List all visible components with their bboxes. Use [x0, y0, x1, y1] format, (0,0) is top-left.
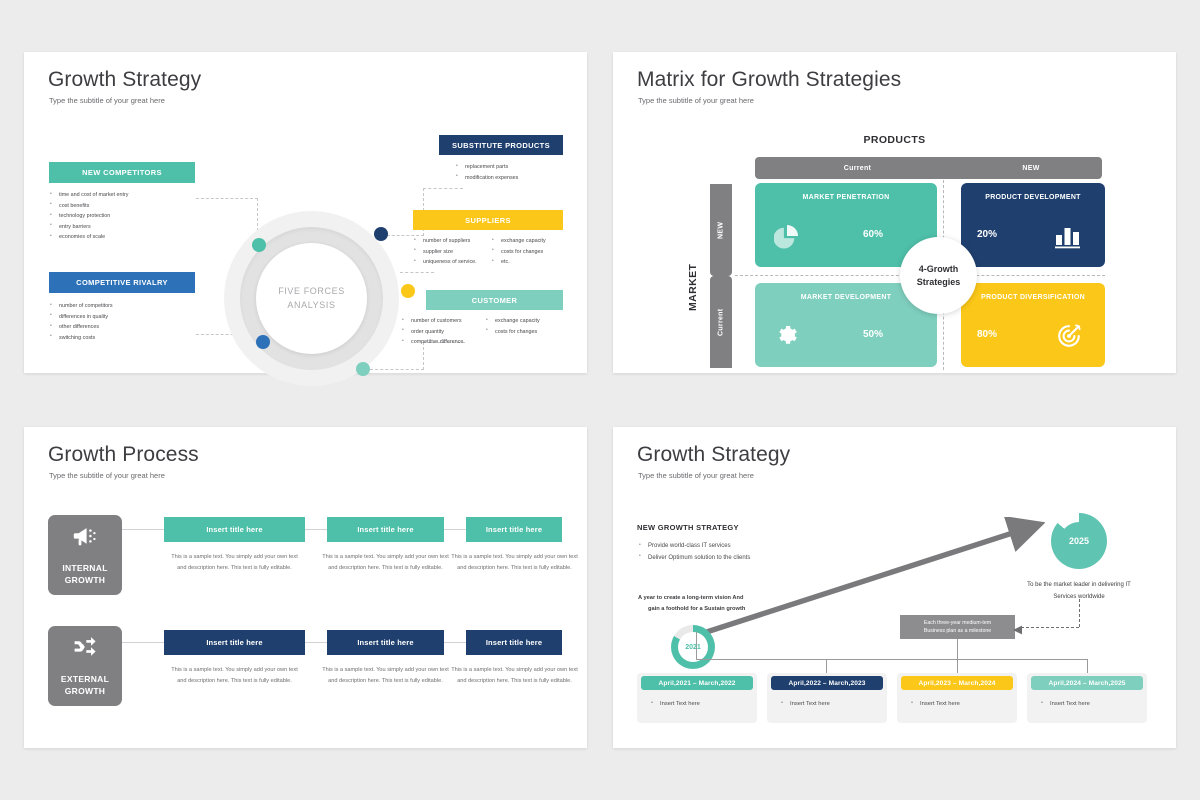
arrow-left-icon — [1013, 622, 1023, 640]
milestone-line2: Business plan as a milestone — [924, 627, 991, 635]
dot-suppliers — [401, 284, 415, 298]
dot-competitive-rivalry — [256, 335, 270, 349]
process-title-external-3[interactable]: Insert title here — [466, 630, 562, 655]
donut-2025: 2025 — [1051, 513, 1107, 569]
page-title: Growth Strategy — [637, 443, 790, 467]
process-title-internal-2[interactable]: Insert title here — [327, 517, 444, 542]
target-icon — [1056, 323, 1082, 354]
timeline-text-fy2023: Insert Text here — [911, 701, 960, 707]
connector-external-3 — [444, 642, 466, 643]
card-label-line1: INTERNAL — [62, 562, 107, 574]
slide-deck-preview: Growth Strategy Type the subtitle of you… — [0, 0, 1200, 800]
milestone-line1: Each three-year medium-tem — [924, 619, 991, 627]
pie-chart-icon — [774, 223, 800, 254]
list-item: cost benefits — [50, 201, 129, 212]
dot-customer — [356, 362, 370, 376]
megaphone-icon — [72, 524, 98, 553]
list-suppliers-left: number of suppliers supplier size unique… — [414, 236, 477, 268]
bus-drop-center — [957, 639, 958, 659]
ring-label-line1: FIVE FORCES — [278, 285, 345, 298]
connector-external-2 — [305, 642, 327, 643]
list-item: economies of scale — [50, 232, 129, 243]
list-item: costs for changes — [492, 247, 546, 258]
bus-drop-4 — [1087, 659, 1088, 673]
quadrant-percent: 60% — [863, 229, 883, 240]
timeline-text-fy2024: Insert Text here — [1041, 701, 1090, 707]
card-label-line1: EXTERNAL — [61, 673, 109, 685]
list-item: differences in quality — [50, 312, 113, 323]
start-note-line1: A year to create a long-term vision And — [638, 593, 813, 604]
quadrant-percent: 80% — [977, 329, 997, 340]
chip-competitive-rivalry[interactable]: COMPETITIVE RIVALRY — [49, 272, 195, 293]
shuffle-arrows-icon — [72, 635, 98, 664]
center-badge-line1: 4-Growth — [919, 263, 959, 275]
card-label-line2: GROWTH — [61, 685, 109, 697]
row-header-current: Current — [710, 276, 732, 368]
row-header-new: NEW — [710, 184, 732, 276]
page-title: Growth Strategy — [48, 68, 201, 92]
list-item: exchange capacity — [486, 316, 540, 327]
card-label-line2: GROWTH — [62, 574, 107, 586]
bus-drop-3 — [957, 659, 958, 673]
quadrant-title: PRODUCT DIVERSIFICATION — [961, 294, 1105, 301]
connector-internal-2 — [305, 529, 327, 530]
five-forces-ring: FIVE FORCES ANALYSIS — [224, 211, 399, 386]
list-item: exchange capacity — [492, 236, 546, 247]
card-external-growth[interactable]: EXTERNAL GROWTH — [48, 626, 122, 706]
axis-label-products: PRODUCTS — [613, 134, 1176, 146]
list-item: other differences — [50, 322, 113, 333]
list-customer-left: number of customers order quantity compe… — [402, 316, 463, 348]
list-item: order quantity — [402, 327, 463, 338]
slide-growth-strategy-timeline[interactable]: Growth Strategy Type the subtitle of you… — [613, 427, 1176, 748]
col-header-current: Current — [755, 157, 960, 179]
process-body-internal-2: This is a sample text. You simply add yo… — [322, 552, 449, 574]
page-subtitle: Type the subtitle of your great here — [49, 96, 165, 105]
connector-end-note-v — [1079, 599, 1080, 627]
quadrant-percent: 50% — [863, 329, 883, 340]
page-subtitle: Type the subtitle of your great here — [49, 471, 165, 480]
quadrant-percent: 20% — [977, 229, 997, 240]
list-item: replacement parts — [456, 162, 518, 173]
end-note-line1: To be the market leader in delivering IT — [991, 579, 1167, 591]
quadrant-product-diversification[interactable]: PRODUCT DIVERSIFICATION 80% — [961, 283, 1105, 367]
list-item: supplier size — [414, 247, 477, 258]
start-note-line2: gain a foothold for a Sustain growth — [638, 604, 813, 615]
quadrant-title: PRODUCT DEVELOPMENT — [961, 194, 1105, 201]
card-internal-growth[interactable]: INTERNAL GROWTH — [48, 515, 122, 595]
connector-suppliers — [400, 272, 434, 273]
slide-matrix-growth-strategies[interactable]: Matrix for Growth Strategies Type the su… — [613, 52, 1176, 373]
list-item: number of suppliers — [414, 236, 477, 247]
timeline-chip-fy2021[interactable]: April,2021 – March,2022 — [641, 676, 753, 690]
dot-substitute-products — [374, 227, 388, 241]
connector-external-1 — [122, 642, 164, 643]
list-suppliers-right: exchange capacity costs for changes etc. — [492, 236, 546, 268]
dot-new-competitors — [252, 238, 266, 252]
process-title-internal-3[interactable]: Insert title here — [466, 517, 562, 542]
ring-label-line2: ANALYSIS — [287, 299, 335, 312]
start-note: A year to create a long-term vision And … — [638, 593, 813, 616]
quadrant-product-development[interactable]: PRODUCT DEVELOPMENT 20% — [961, 183, 1105, 267]
timeline-chip-fy2022[interactable]: April,2022 – March,2023 — [771, 676, 883, 690]
card-label: EXTERNAL GROWTH — [61, 673, 109, 698]
list-item: uniqueness of service. — [414, 257, 477, 268]
timeline-text-fy2021: Insert Text here — [651, 701, 700, 707]
col-header-new: NEW — [960, 157, 1102, 179]
ring-center-label: FIVE FORCES ANALYSIS — [256, 243, 367, 354]
timeline-text-fy2022: Insert Text here — [781, 701, 830, 707]
timeline-chip-fy2024[interactable]: April,2024 – March,2025 — [1031, 676, 1143, 690]
center-badge-4-growth-strategies[interactable]: 4-Growth Strategies — [900, 237, 977, 314]
chip-customer[interactable]: CUSTOMER — [426, 290, 563, 310]
donut-year-label: 2021 — [685, 644, 701, 651]
connector-substitute-t — [423, 188, 463, 189]
chip-new-competitors[interactable]: NEW COMPETITORS — [49, 162, 195, 183]
bus-drop-2 — [826, 659, 827, 673]
milestone-box[interactable]: Each three-year medium-tem Business plan… — [900, 615, 1015, 639]
chip-suppliers[interactable]: SUPPLIERS — [413, 210, 563, 230]
connector-internal-1 — [122, 529, 164, 530]
list-item: number of customers — [402, 316, 463, 327]
timeline-chip-fy2023[interactable]: April,2023 – March,2024 — [901, 676, 1013, 690]
process-body-external-3: This is a sample text. You simply add yo… — [451, 665, 578, 687]
list-item: number of competitors — [50, 301, 113, 312]
card-label: INTERNAL GROWTH — [62, 562, 107, 587]
donut-year-label: 2025 — [1069, 536, 1089, 546]
list-item: etc. — [492, 257, 546, 268]
list-item: modification expenses — [456, 173, 518, 184]
page-title: Matrix for Growth Strategies — [637, 68, 901, 92]
list-item: competitive difference — [402, 337, 463, 348]
quadrant-title: MARKET PENETRATION — [755, 194, 937, 201]
process-body-external-1: This is a sample text. You simply add yo… — [171, 665, 298, 687]
page-subtitle: Type the subtitle of your great here — [638, 96, 754, 105]
list-customer-right: exchange capacity costs for changes — [486, 316, 540, 337]
list-item: technology protection — [50, 211, 129, 222]
connector-new-competitors — [196, 198, 258, 199]
list-item: time and cost of market entry — [50, 190, 129, 201]
center-badge-line2: Strategies — [917, 276, 961, 288]
slide-growth-process[interactable]: Growth Process Type the subtitle of your… — [24, 427, 587, 748]
connector-internal-3 — [444, 529, 466, 530]
list-item: entry barriers — [50, 222, 129, 233]
bus-horizontal — [696, 659, 1087, 660]
list-item: switching costs — [50, 333, 113, 344]
chip-substitute-products[interactable]: SUBSTITUTE PRODUCTS — [439, 135, 563, 155]
bar-chart-icon — [1054, 223, 1082, 254]
page-title: Growth Process — [48, 443, 199, 467]
slide-growth-strategy-five-forces[interactable]: Growth Strategy Type the subtitle of you… — [24, 52, 587, 373]
process-title-external-1[interactable]: Insert title here — [164, 630, 305, 655]
process-body-internal-1: This is a sample text. You simply add yo… — [171, 552, 298, 574]
connector-end-note-h — [1021, 627, 1079, 628]
process-title-internal-1[interactable]: Insert title here — [164, 517, 305, 542]
process-body-internal-3: This is a sample text. You simply add yo… — [451, 552, 578, 574]
gear-icon — [774, 323, 800, 354]
list-new-competitors: time and cost of market entry cost benef… — [50, 190, 129, 243]
page-subtitle: Type the subtitle of your great here — [638, 471, 754, 480]
list-competitive-rivalry: number of competitors differences in qua… — [50, 301, 113, 343]
process-title-external-2[interactable]: Insert title here — [327, 630, 444, 655]
list-item: costs for changes — [486, 327, 540, 338]
axis-label-market: MARKET — [685, 242, 701, 332]
process-body-external-2: This is a sample text. You simply add yo… — [322, 665, 449, 687]
donut-2021: 2021 — [671, 625, 715, 669]
list-substitute-products: replacement parts modification expenses — [456, 162, 518, 183]
